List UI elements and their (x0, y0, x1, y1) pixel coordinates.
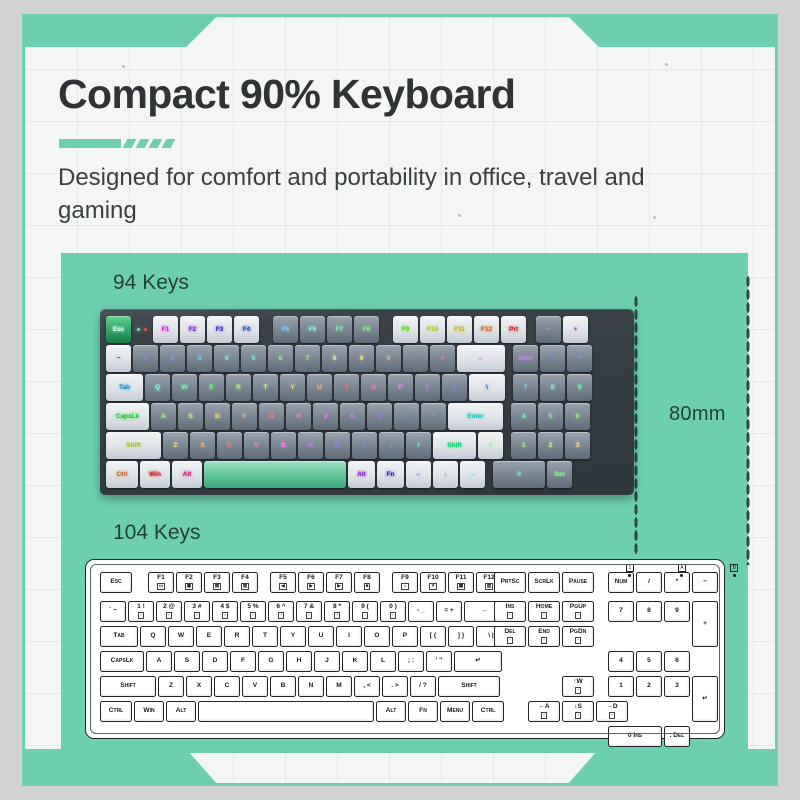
keycap-label: Z (169, 683, 173, 690)
keycap[interactable]: / (406, 432, 431, 459)
keycap-label: F6 (307, 575, 315, 582)
keycap[interactable]: F3 (207, 316, 232, 343)
keycap[interactable]: 9 (▫ (352, 601, 378, 622)
measure-guide-right (746, 275, 750, 565)
keycap[interactable]: Pause (562, 572, 594, 593)
keycap-label: Num (615, 579, 628, 586)
keycap-sublabel: ▫ (138, 612, 143, 619)
keycap-label: I (348, 633, 350, 640)
keyboard-row: ` ~1 !▫2 @▫3 #▫4 $▫5 %▫6 ^▫7 &▫8 *▫9 (▫0… (100, 601, 506, 622)
keycap[interactable]: Ctrl (106, 461, 138, 488)
keycap[interactable]: D (202, 651, 228, 672)
keycap[interactable]: Num (513, 345, 538, 372)
scroll-lock-indicator: B (730, 564, 738, 577)
keycap[interactable]: F6▶ (298, 572, 324, 593)
keycap[interactable]: Tab (106, 374, 143, 401)
keycap[interactable]: F8 (354, 316, 379, 343)
keycap[interactable]: F (232, 403, 257, 430)
keyboard-row: 789+ (608, 601, 718, 647)
keycap[interactable]: 2 (160, 345, 185, 372)
keyboard-row: Del▫End▫PgDn▫ (494, 626, 594, 647)
indicator-led (733, 574, 736, 577)
keycap-label: Shift (461, 683, 477, 690)
keycap-label: 0 ) (389, 604, 397, 611)
keycap[interactable]: ↵ (454, 651, 502, 672)
keycap-label: A (157, 658, 162, 665)
keycap[interactable]: Alt (348, 461, 375, 488)
keycap-label: Tab (113, 633, 124, 640)
keycap-label: ↵ (475, 658, 481, 665)
keycap[interactable]: F11▦ (448, 572, 474, 593)
keycap[interactable]: Win (134, 701, 164, 722)
keycap-sublabel: ◀ (279, 583, 286, 590)
keycap[interactable]: , (352, 432, 377, 459)
keyboard-row: CtrlWinAltAltFnMenuCtrl (100, 701, 506, 722)
keycap[interactable]: F12 (474, 316, 499, 343)
keycap-label: 7 (619, 608, 623, 615)
keycap-sublabel: ▭ (157, 583, 165, 590)
keycap[interactable]: CapsLk (100, 651, 144, 672)
keycap[interactable]: M (326, 676, 352, 697)
keycap[interactable]: ↑ (478, 432, 503, 459)
keyboard-row: Ins▫Home▫PgUp▫ (494, 601, 594, 622)
keycap-label: S (185, 658, 189, 665)
keycap[interactable]: 1 (133, 345, 158, 372)
accent-dash (136, 139, 150, 148)
keycap[interactable]: , < (354, 676, 380, 697)
keyboard-row: 123↵ (608, 676, 718, 722)
keycap-sublabel: ▫ (541, 712, 546, 719)
keycap[interactable]: F10✕ (420, 572, 446, 593)
keycap[interactable]: + (692, 601, 718, 647)
keycap-label: * (676, 579, 679, 586)
keycap[interactable]: Alt (376, 701, 406, 722)
keycap[interactable]: I (334, 374, 359, 401)
keyboard-row: EscF1▭F2▣F3▤F4▥F5◀F6▶F7▶F8■F9☼F10✕F11▦F1… (100, 572, 506, 593)
keycap-label: / (648, 579, 650, 586)
keycap[interactable]: ~ (106, 345, 131, 372)
keycap[interactable]: 5 (241, 345, 266, 372)
keycap[interactable]: Del (547, 461, 572, 488)
keycap[interactable]: B (271, 432, 296, 459)
keycap[interactable]: Win (140, 461, 170, 488)
keycap[interactable] (204, 461, 346, 488)
keycap[interactable]: F4▥ (232, 572, 258, 593)
keycap[interactable]: 3 (664, 676, 690, 697)
keycap-label: Alt (176, 708, 187, 715)
keycap[interactable]: Ins▫ (494, 601, 526, 622)
keycap[interactable]: P (392, 626, 418, 647)
keycap[interactable]: 2 (538, 432, 563, 459)
keycap[interactable]: Z (158, 676, 184, 697)
page-subtitle: Designed for comfort and portability in … (58, 161, 708, 227)
keycap[interactable]: . > (382, 676, 408, 697)
keycap-label: F1 (157, 575, 165, 582)
keycap[interactable]: U (307, 374, 332, 401)
keycap-label: 3 # (192, 604, 201, 611)
led-indicator (137, 328, 140, 331)
keycap[interactable]: F9 (393, 316, 418, 343)
keycap[interactable]: Tab (100, 626, 138, 647)
keycap[interactable]: V (242, 676, 268, 697)
keycap-label: F12 (483, 575, 494, 582)
keycap[interactable]: . Del (664, 726, 690, 747)
keycap[interactable]: Z (163, 432, 188, 459)
keycap[interactable]: 9 (349, 345, 374, 372)
keycap[interactable]: - _ (408, 601, 434, 622)
keycap-label: ↵ (702, 696, 708, 703)
keycap[interactable]: 1 (511, 432, 536, 459)
keycap-label: J (325, 658, 329, 665)
keycap[interactable]: 5 %▫ (240, 601, 266, 622)
keycap[interactable] (198, 701, 374, 722)
keycap[interactable]: F10 (420, 316, 445, 343)
keycap[interactable]: 2 @▫ (156, 601, 182, 622)
keycap[interactable]: Q (140, 626, 166, 647)
keycap-sublabel: ▶ (335, 583, 342, 590)
keycap[interactable]: 3 (565, 432, 590, 459)
keycap-label: Win (143, 708, 154, 715)
keycap-sublabel: ▫ (250, 612, 255, 619)
keycap-label: V (253, 683, 257, 690)
keycap[interactable]: = + (436, 601, 462, 622)
keycap[interactable]: B (270, 676, 296, 697)
keycap[interactable]: F7 (327, 316, 352, 343)
keycap[interactable]: 8 *▫ (324, 601, 350, 622)
keycap[interactable]: I (336, 626, 362, 647)
keycap[interactable]: 3 (187, 345, 212, 372)
keycap-label: 1 ! (137, 604, 145, 611)
keycap[interactable]: 8 (540, 374, 565, 401)
keycap[interactable]: Home▫ (528, 601, 560, 622)
keycap[interactable]: O (364, 626, 390, 647)
keycap[interactable]: U (308, 626, 334, 647)
keycap-label: 6 ^ (276, 604, 285, 611)
keycap[interactable]: N (298, 432, 323, 459)
keycap[interactable]: F5 (273, 316, 298, 343)
keycap-sublabel: ▫ (575, 687, 580, 694)
keycap-label: Esc (110, 579, 121, 586)
keycap[interactable]: PgDn▫ (562, 626, 594, 647)
keycap[interactable]: 5 (636, 651, 662, 672)
keycap[interactable]: Shift (106, 432, 161, 459)
keycap[interactable]: ← (406, 461, 431, 488)
keycap[interactable]: - (403, 345, 428, 372)
keycap[interactable]: D (205, 403, 230, 430)
keycap[interactable]: Fn (408, 701, 438, 722)
keycap[interactable]: PrtSc (494, 572, 526, 593)
keycap[interactable]: C (214, 676, 240, 697)
keycap[interactable]: J (313, 403, 338, 430)
accent-bar (59, 139, 121, 148)
keycap-label: B (281, 683, 286, 690)
keycap[interactable]: ↵ (692, 676, 718, 722)
keycap[interactable]: CapsLk (106, 403, 149, 430)
keycap[interactable]: T (252, 626, 278, 647)
keycap[interactable]: 6 (664, 651, 690, 672)
keycap-sublabel: ✕ (429, 583, 436, 590)
keycap[interactable]: Alt (172, 461, 202, 488)
keycap[interactable]: F6 (300, 316, 325, 343)
keycap[interactable]: Y (280, 626, 306, 647)
keycap[interactable]: R (226, 374, 251, 401)
keycap[interactable]: X (186, 676, 212, 697)
keycap-label: ' " (436, 658, 443, 665)
keycap-sublabel: ▫ (575, 612, 580, 619)
keycap-label: F5 (279, 575, 287, 582)
keycap-label: 9 (675, 608, 679, 615)
key-gap (528, 316, 534, 343)
keycap-label: ← (482, 608, 489, 615)
keycap[interactable]: 9 (567, 374, 592, 401)
keycap-label: F2 (185, 575, 193, 582)
keycap-label: Menu (447, 708, 463, 715)
keycap[interactable]: 8 (322, 345, 347, 372)
keycap-label: 6 (675, 658, 679, 665)
keycap[interactable]: 7 (513, 374, 538, 401)
keycap[interactable]: L (367, 403, 392, 430)
keycap[interactable]: W (172, 374, 197, 401)
keycap[interactable]: F4 (234, 316, 259, 343)
keycap[interactable]: ; (394, 403, 419, 430)
keycap[interactable]: G (259, 403, 284, 430)
keycap-label: \ | (488, 633, 494, 640)
keyboard-row: CtrlWinAltAltFn←↓→0Del (106, 461, 628, 488)
keycap[interactable]: Shift (438, 676, 500, 697)
keycap-label: 3 (675, 683, 679, 690)
keycap-sublabel: ▫ (507, 637, 512, 644)
keyboard-row: TabQWERTYUIOP[]\789 (106, 374, 628, 401)
keycap[interactable]: 3 #▫ (184, 601, 210, 622)
keycap[interactable]: / (540, 345, 565, 372)
keycap-label: Alt (386, 708, 397, 715)
keycap[interactable]: ' " (426, 651, 452, 672)
keycap[interactable]: * (567, 345, 592, 372)
keycap[interactable]: Esc (100, 572, 132, 593)
keycap[interactable]: ; : (398, 651, 424, 672)
keycap-label: 8 * (333, 604, 341, 611)
keycap-label: F7 (335, 575, 343, 582)
keycap-label: 2 @ (163, 604, 175, 611)
keycap[interactable]: . (379, 432, 404, 459)
keycap-sublabel: ▦ (457, 583, 465, 590)
keycap-label: F3 (213, 575, 221, 582)
keycap[interactable]: Shift (100, 676, 156, 697)
keycap[interactable]: 1 (608, 676, 634, 697)
keycap-label: Ctrl (109, 708, 123, 715)
keycap[interactable]: → (460, 461, 485, 488)
keycap-sublabel: ▫ (507, 612, 512, 619)
keycap[interactable]: V (244, 432, 269, 459)
keycap[interactable]: R (224, 626, 250, 647)
keycap[interactable]: J (314, 651, 340, 672)
keycap[interactable]: + (563, 316, 588, 343)
keycap[interactable]: Q (145, 374, 170, 401)
keycap[interactable]: O (361, 374, 386, 401)
keycap[interactable]: X (190, 432, 215, 459)
keycap[interactable]: F11 (447, 316, 472, 343)
keycap[interactable]: F1 (153, 316, 178, 343)
keycap[interactable]: T (253, 374, 278, 401)
keycap[interactable]: C (217, 432, 242, 459)
keycap-label: CapsLk (111, 658, 134, 665)
keycap-label: U (319, 633, 324, 640)
keycap[interactable]: E (199, 374, 224, 401)
keycap[interactable]: Enter (448, 403, 503, 430)
keycap[interactable]: PgUp▫ (562, 601, 594, 622)
keycap-label: Pause (569, 579, 587, 586)
keycap[interactable]: 0 (376, 345, 401, 372)
keycap-label: Q (150, 633, 155, 640)
keycap-label: Ins (506, 604, 515, 611)
keycap-sublabel: ▫ (541, 612, 546, 619)
keycap[interactable]: 6 ^▫ (268, 601, 294, 622)
keycap[interactable]: F1▭ (148, 572, 174, 593)
keycap-label: - _ (417, 608, 425, 615)
keycap-label: Shift (120, 683, 136, 690)
keycap[interactable]: ↓ (433, 461, 458, 488)
keycap[interactable]: ] } (448, 626, 474, 647)
keycap[interactable]: Shift (433, 432, 476, 459)
keycap[interactable]: 7 (608, 601, 634, 622)
keycap-label: P (403, 633, 407, 640)
keycap[interactable]: ] (442, 374, 467, 401)
keycap[interactable]: 4 (608, 651, 634, 672)
keycap[interactable]: 4 (511, 403, 536, 430)
keycap-sublabel: ▫ (575, 637, 580, 644)
keyboard-row: ShiftZXCVBNM,./Shift↑123 (106, 432, 628, 459)
keycap[interactable]: ' (421, 403, 446, 430)
indicator-glyph: B (730, 564, 738, 572)
keycap[interactable]: [ { (420, 626, 446, 647)
keyboard-zone: PrtScScrLkPauseIns▫Home▫PgUp▫Del▫End▫PgD… (494, 572, 594, 647)
keycap[interactable]: A (151, 403, 176, 430)
keycap[interactable]: F7▶ (326, 572, 352, 593)
keycap[interactable]: A (146, 651, 172, 672)
keycap[interactable]: 9 (664, 601, 690, 622)
keycap[interactable]: S (178, 403, 203, 430)
keycap-label: C (225, 683, 230, 690)
keycap[interactable]: Del▫ (494, 626, 526, 647)
keycap[interactable]: P (388, 374, 413, 401)
keycap[interactable]: F5◀ (270, 572, 296, 593)
keyboard-row: CapsLkASDFGHJKL; :' "↵ (100, 651, 506, 672)
keycap[interactable]: 6 (268, 345, 293, 372)
keycap[interactable]: 1 !▫ (128, 601, 154, 622)
keycap[interactable]: M (325, 432, 350, 459)
keycap[interactable]: / ? (410, 676, 436, 697)
keycap[interactable]: G (258, 651, 284, 672)
keyboard-zone: Num/*−789+456123↵0 Ins. Del (608, 572, 718, 747)
keycap-sublabel: ▤ (213, 583, 221, 590)
keycap[interactable]: W (168, 626, 194, 647)
keycap[interactable]: ↑W▫ (562, 676, 594, 697)
keycap[interactable]: 2 (636, 676, 662, 697)
keycap[interactable]: F2 (180, 316, 205, 343)
indicator-led (628, 574, 631, 577)
keycap-label: X (197, 683, 201, 690)
keycap[interactable]: 5 (538, 403, 563, 430)
keycap[interactable]: F2▣ (176, 572, 202, 593)
keycap-label: ScrLk (534, 579, 553, 586)
keycap[interactable]: − (536, 316, 561, 343)
speck-dot (665, 63, 668, 66)
keyboard-row: 456 (608, 651, 718, 672)
keycap-label: 5 % (247, 604, 258, 611)
keycap-label: + (703, 621, 707, 628)
keycap[interactable]: Alt (166, 701, 196, 722)
keycap[interactable]: H (286, 403, 311, 430)
keycap[interactable]: F9☼ (392, 572, 418, 593)
keycap[interactable]: 0 )▫ (380, 601, 406, 622)
keycap-label: Fn (419, 708, 427, 715)
keycap-label: 0 Ins (628, 733, 642, 740)
keycap[interactable]: Ctrl (472, 701, 504, 722)
keycap[interactable]: Y (280, 374, 305, 401)
keyboard-row: CapsLkASDFGHJKL;'Enter456 (106, 403, 628, 430)
keycap[interactable]: H (286, 651, 312, 672)
keycap-sublabel: ▫ (278, 612, 283, 619)
keycap-label: 5 (647, 658, 651, 665)
keycap[interactable]: 4 $▫ (212, 601, 238, 622)
keycap-sublabel: ▫ (166, 612, 171, 619)
keycap[interactable]: Fn (377, 461, 404, 488)
keycap[interactable]: End▫ (528, 626, 560, 647)
keycap[interactable]: Ctrl (100, 701, 132, 722)
keycap[interactable]: ← (457, 345, 505, 372)
keycap[interactable]: Prt (501, 316, 526, 343)
keycap[interactable]: 8 (636, 601, 662, 622)
keycap-label: F9 (401, 575, 409, 582)
keycap-label: K (353, 658, 358, 665)
keycap[interactable]: \ (469, 374, 505, 401)
keycap[interactable]: 4 (214, 345, 239, 372)
keycap[interactable]: Menu (440, 701, 470, 722)
keycap-label: − (703, 579, 707, 586)
keycap[interactable]: S (174, 651, 200, 672)
keycap[interactable]: ←A▫ (528, 701, 560, 722)
key-gap (507, 374, 511, 401)
keycap[interactable]: 7 (295, 345, 320, 372)
keycap-label: PrtSc (500, 579, 519, 586)
keycap-label: PgDn (570, 629, 587, 636)
keycap[interactable]: E (196, 626, 222, 647)
keycap[interactable]: L (370, 651, 396, 672)
keycap[interactable]: ScrLk (528, 572, 560, 593)
keycap[interactable]: 0 Ins (608, 726, 662, 747)
num-lock-indicator: 1 (626, 564, 634, 577)
keycap[interactable]: [ (415, 374, 440, 401)
keycap[interactable]: F3▤ (204, 572, 230, 593)
keycap[interactable]: K (340, 403, 365, 430)
keycap-label: 4 (619, 658, 623, 665)
keycap[interactable]: 7 &▫ (296, 601, 322, 622)
keycap[interactable]: Esc (106, 316, 131, 343)
keycap[interactable]: F (230, 651, 256, 672)
keycap[interactable]: N (298, 676, 324, 697)
keycap[interactable]: F8■ (354, 572, 380, 593)
keycap-label: Del (504, 629, 515, 636)
keycap[interactable]: = (430, 345, 455, 372)
keycap[interactable]: 0 (493, 461, 545, 488)
keycap[interactable]: 6 (565, 403, 590, 430)
keyboard-row: ShiftZXCVBNM, <. >/ ?Shift (100, 676, 506, 697)
keycap[interactable]: ↓S▫ (562, 701, 594, 722)
keycap[interactable]: ` ~ (100, 601, 126, 622)
top-accent-banner (25, 17, 775, 47)
keycap-label: Ctrl (481, 708, 495, 715)
keycap[interactable]: K (342, 651, 368, 672)
